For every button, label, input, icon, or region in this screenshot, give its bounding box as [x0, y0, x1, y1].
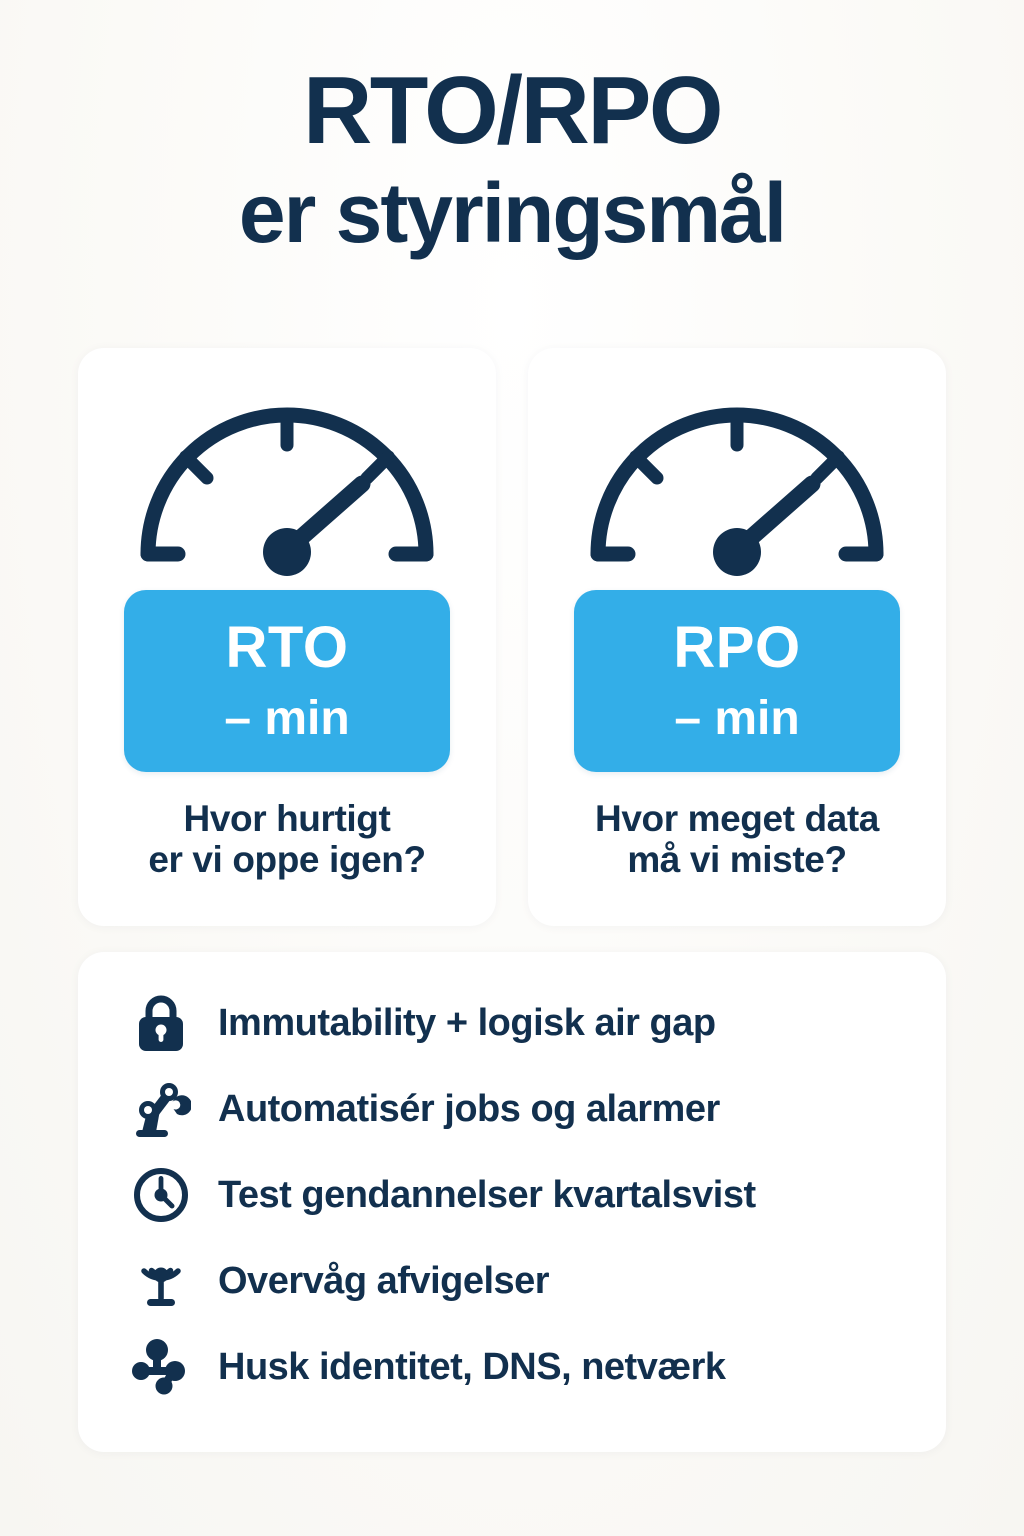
network-nodes-icon [130, 1336, 192, 1398]
metric-pill-rto: RTO – min [124, 590, 450, 772]
title-line-2: er styringsmål [0, 168, 1024, 259]
list-item: Automatisér jobs og alarmer [130, 1066, 906, 1152]
title-line-1: RTO/RPO [0, 62, 1024, 160]
page-title: RTO/RPO er styringsmål [0, 62, 1024, 259]
gauge-icon [567, 382, 907, 582]
metric-card-rto: RTO – min Hvor hurtigt er vi oppe igen? [78, 348, 496, 926]
clock-icon [130, 1164, 192, 1226]
metric-pill-value: – min [674, 695, 799, 743]
list-item-label: Overvåg afvigelser [218, 1260, 549, 1303]
list-item-label: Immutability + logisk air gap [218, 1002, 716, 1045]
list-item: Husk identitet, DNS, netværk [130, 1324, 906, 1410]
metric-caption-line-2: må vi miste? [595, 839, 879, 880]
metric-pill-title: RPO [673, 619, 800, 677]
gauge-icon [117, 382, 457, 582]
metric-caption-rpo: Hvor meget data må vi miste? [595, 798, 879, 881]
padlock-icon [130, 992, 192, 1054]
checklist-card: Immutability + logisk air gap Automatisé… [78, 952, 946, 1452]
metric-pill-title: RTO [226, 619, 349, 677]
metric-caption-rto: Hvor hurtigt er vi oppe igen? [148, 798, 425, 881]
list-item-label: Husk identitet, DNS, netværk [218, 1346, 726, 1389]
list-item-label: Automatisér jobs og alarmer [218, 1088, 720, 1131]
metric-card-row: RTO – min Hvor hurtigt er vi oppe igen? [78, 348, 946, 926]
metric-caption-line-1: Hvor hurtigt [148, 798, 425, 839]
metric-caption-line-1: Hvor meget data [595, 798, 879, 839]
robot-arm-icon [130, 1078, 192, 1140]
list-item: Overvåg afvigelser [130, 1238, 906, 1324]
infographic-page: RTO/RPO er styringsmål RTO – min [0, 0, 1024, 1536]
list-item: Test gendannelser kvartalsvist [130, 1152, 906, 1238]
metric-pill-rpo: RPO – min [574, 590, 900, 772]
metric-card-rpo: RPO – min Hvor meget data må vi miste? [528, 348, 946, 926]
list-item-label: Test gendannelser kvartalsvist [218, 1174, 756, 1217]
metric-pill-value: – min [224, 695, 349, 743]
broadcast-icon [130, 1250, 192, 1312]
metric-caption-line-2: er vi oppe igen? [148, 839, 425, 880]
list-item: Immutability + logisk air gap [130, 980, 906, 1066]
